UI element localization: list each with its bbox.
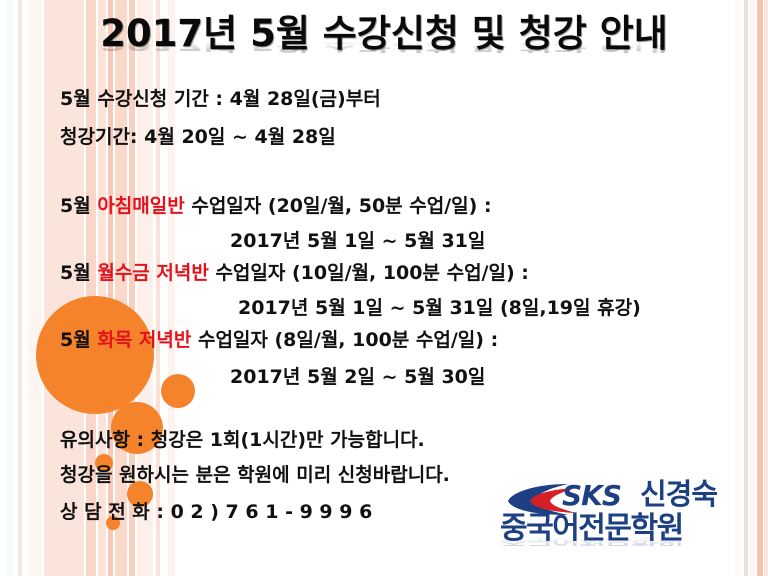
- stripe-16: [764, 0, 768, 576]
- stripe-5: [98, 0, 106, 576]
- page-title-reflection: 2017년 5월 수강신청 및 청강 안내: [0, 35, 768, 53]
- class-suffix: 수업일자 (8일/월, 100분 수업/일) :: [191, 329, 498, 351]
- class-name-highlight: 화목 저녁반: [97, 329, 191, 351]
- note-caution: 유의사항 : 청강은 1회(1시간)만 가능합니다.: [60, 431, 425, 450]
- class-prefix: 5월: [60, 329, 97, 351]
- class-dates-mwf-evening: 2017년 5월 1일 ~ 5월 31일 (8일,19일 휴강): [238, 299, 641, 318]
- stripe-0: [6, 0, 13, 576]
- class-suffix: 수업일자 (10일/월, 100분 수업/일) :: [209, 262, 529, 284]
- note-request: 청강을 원하시는 분은 학원에 미리 신청바랍니다.: [60, 466, 450, 485]
- stripe-1: [18, 0, 22, 576]
- title-block: 2017년 5월 수강신청 및 청강 안내 2017년 5월 수강신청 및 청강…: [0, 14, 768, 92]
- class-line-tth-evening: 5월 화목 저녁반 수업일자 (8일/월, 100분 수업/일) :: [60, 331, 498, 350]
- class-prefix: 5월: [60, 195, 97, 217]
- logo-mark: SKS: [562, 482, 621, 510]
- stripe-9: [137, 0, 153, 576]
- stripe-10: [156, 0, 160, 576]
- stripe-11: [168, 0, 175, 576]
- orange-circle-1: [161, 374, 195, 408]
- apply-period-line: 5월 수강신청 기간 : 4월 28일(금)부터: [60, 90, 381, 109]
- class-line-morning: 5월 아침매일반 수업일자 (20일/월, 50분 수업/일) :: [60, 197, 492, 216]
- stripe-4: [86, 0, 96, 576]
- audit-period-line: 청강기간: 4월 20일 ~ 4월 28일: [60, 128, 336, 147]
- stripe-3: [44, 0, 84, 576]
- class-dates-morning: 2017년 5월 1일 ~ 5월 31일: [230, 232, 485, 251]
- logo-subtitle-reflection: 중국어전문학원: [500, 534, 683, 546]
- note-phone: 상 담 전 화 : 0 2 ) 7 6 1 - 9 9 9 6: [60, 503, 372, 522]
- class-prefix: 5월: [60, 262, 97, 284]
- class-name-highlight: 월수금 저녁반: [97, 262, 209, 284]
- stripe-6: [108, 0, 113, 576]
- page-title: 2017년 5월 수강신청 및 청강 안내: [0, 14, 768, 53]
- academy-logo: SKS 신경숙 중국어전문학원 중국어전문학원: [500, 480, 758, 558]
- stripe-8: [129, 0, 135, 576]
- announcement-slide: 2017년 5월 수강신청 및 청강 안내 2017년 5월 수강신청 및 청강…: [0, 0, 768, 576]
- orange-circle-0: [36, 296, 154, 414]
- logo-name: 신경숙: [640, 480, 717, 509]
- stripe-2: [28, 0, 42, 576]
- stripe-7: [115, 0, 127, 576]
- class-dates-tth-evening: 2017년 5월 2일 ~ 5월 30일: [230, 368, 485, 387]
- class-line-mwf-evening: 5월 월수금 저녁반 수업일자 (10일/월, 100분 수업/일) :: [60, 264, 529, 283]
- class-name-highlight: 아침매일반: [97, 195, 184, 217]
- class-suffix: 수업일자 (20일/월, 50분 수업/일) :: [185, 195, 492, 217]
